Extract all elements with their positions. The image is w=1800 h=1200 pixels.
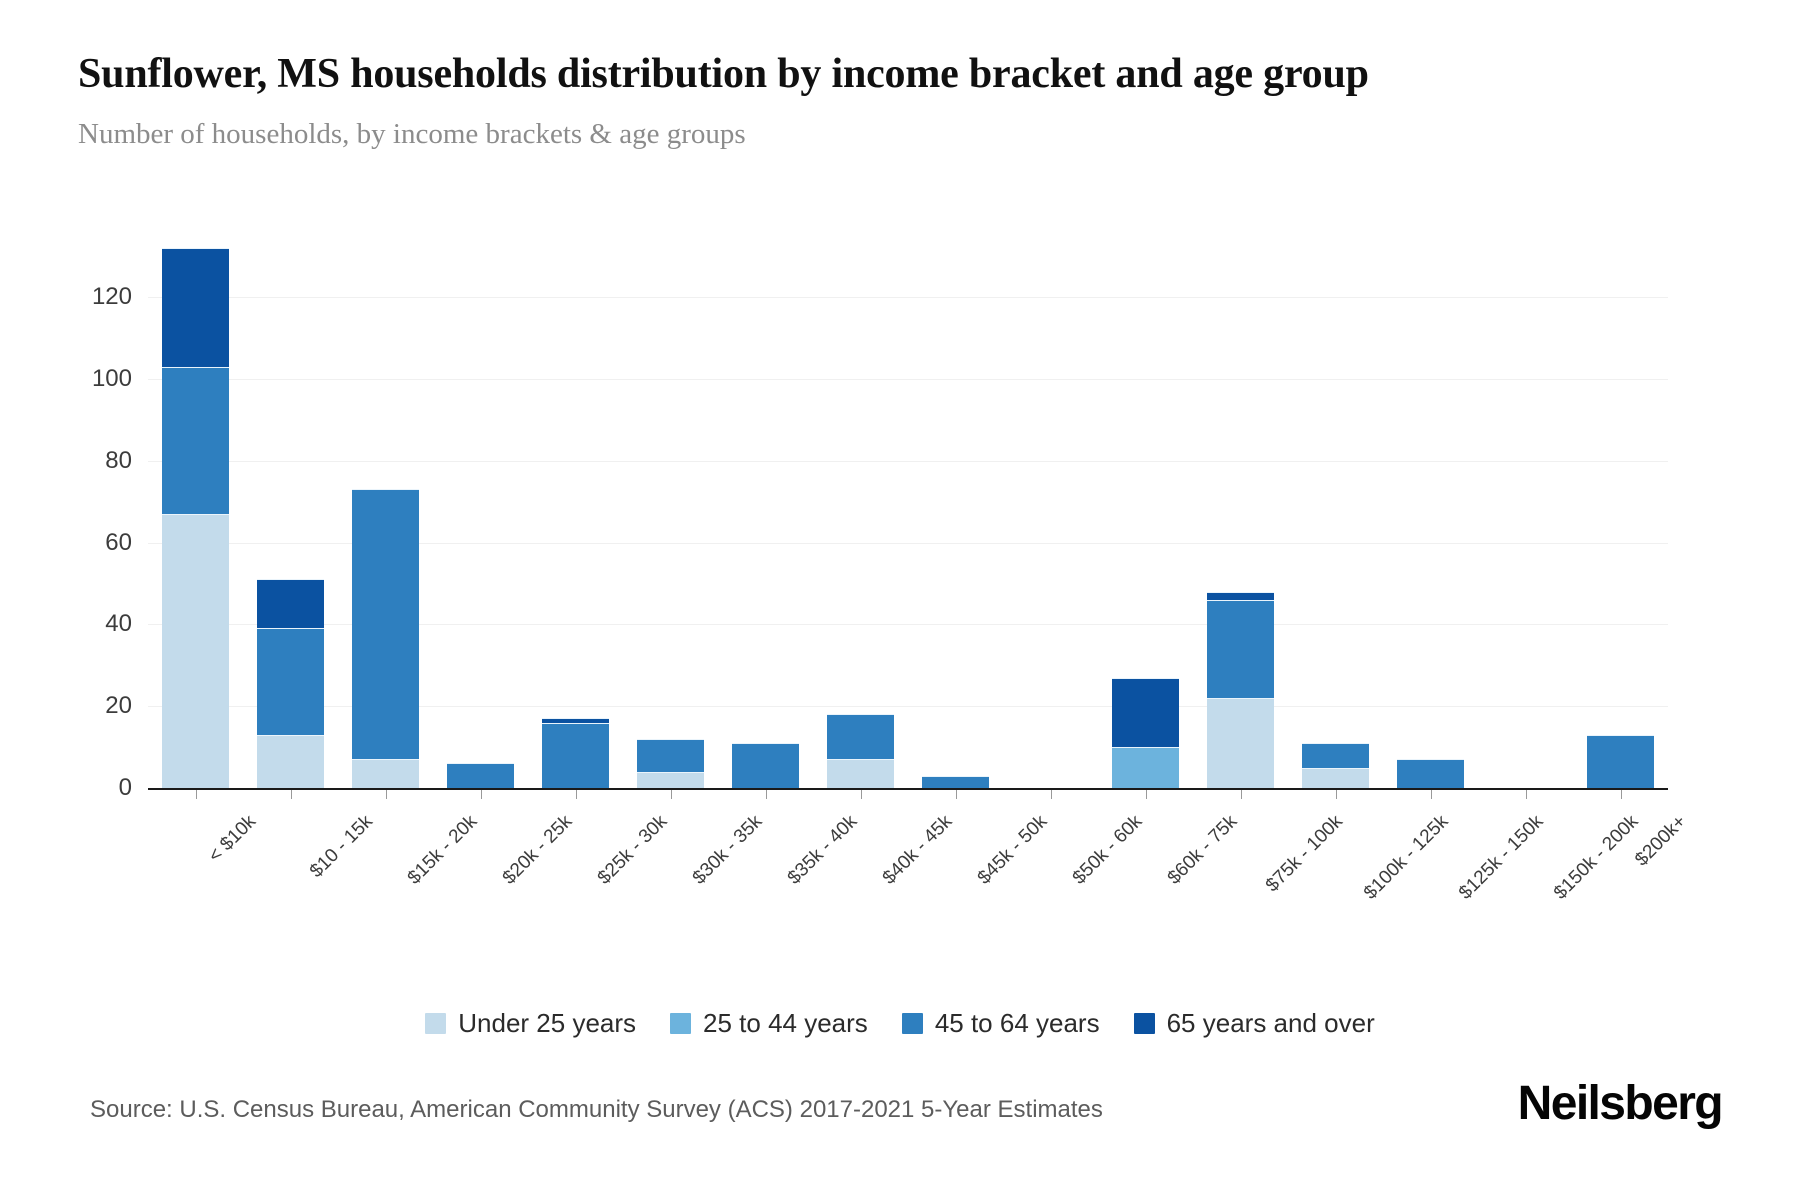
bar-stack [447,763,514,788]
bar-segment[interactable] [637,739,704,772]
x-tick [861,790,862,799]
chart-footer: Source: U.S. Census Bureau, American Com… [0,1088,1800,1158]
y-tick-label: 0 [119,774,132,802]
x-tick [1621,790,1622,799]
x-tick-label: $45k - 50k [973,811,1051,889]
x-tick [196,790,197,799]
legend-swatch-icon [425,1013,446,1034]
x-axis-ticks [148,790,1668,802]
plot-area: 020406080100120 < $10k$10 - 15k$15k - 20… [0,248,1800,908]
bar-stack [352,489,419,788]
bar-column[interactable] [922,248,989,788]
bar-segment[interactable] [827,759,894,788]
x-tick [481,790,482,799]
bar-segment[interactable] [542,723,609,788]
x-tick [766,790,767,799]
bar-segment[interactable] [1397,759,1464,788]
bar-stack [1207,592,1274,788]
bar-segment[interactable] [1207,592,1274,600]
legend-item[interactable]: 45 to 64 years [902,1008,1100,1039]
legend-label: 65 years and over [1167,1008,1375,1039]
legend-swatch-icon [902,1013,923,1034]
x-tick-label: $20k - 25k [498,811,576,889]
chart-header: Sunflower, MS households distribution by… [78,48,1638,151]
x-tick-label: $200k+ [1631,811,1691,871]
bar-segment[interactable] [827,714,894,759]
bar-stack [922,776,989,788]
bar-segment[interactable] [1112,747,1179,788]
bar-segment[interactable] [257,735,324,788]
bar-column[interactable] [1397,248,1464,788]
bar-column[interactable] [352,248,419,788]
legend-label: 45 to 64 years [935,1008,1100,1039]
x-tick [1051,790,1052,799]
bar-stack [827,714,894,788]
bar-segment[interactable] [162,248,229,367]
bar-segment[interactable] [257,628,324,734]
legend-swatch-icon [670,1013,691,1034]
bar-column[interactable] [637,248,704,788]
x-tick-label: $30k - 35k [688,811,766,889]
bar-segment[interactable] [162,514,229,788]
y-tick-label: 80 [105,447,132,475]
x-tick-label: $15k - 20k [403,811,481,889]
x-tick [1431,790,1432,799]
bar-stack [1302,743,1369,788]
legend-label: 25 to 44 years [703,1008,868,1039]
bar-column[interactable] [1112,248,1179,788]
bar-stack [542,718,609,788]
x-tick [1336,790,1337,799]
bar-column[interactable] [542,248,609,788]
x-tick-label: $10 - 15k [305,811,377,883]
chart-page: Sunflower, MS households distribution by… [0,0,1800,1200]
x-tick-label: $100k - 125k [1359,811,1452,904]
bar-segment[interactable] [1587,735,1654,788]
bar-stack [162,248,229,788]
x-axis-labels: < $10k$10 - 15k$15k - 20k$20k - 25k$25k … [148,804,1668,924]
legend: Under 25 years25 to 44 years45 to 64 yea… [0,1008,1800,1039]
bar-segment[interactable] [352,489,419,759]
chart-subtitle: Number of households, by income brackets… [78,118,1638,151]
x-tick [1241,790,1242,799]
legend-label: Under 25 years [458,1008,636,1039]
bar-column[interactable] [1492,248,1559,788]
y-tick-label: 40 [105,610,132,638]
x-tick [1146,790,1147,799]
legend-item[interactable]: 65 years and over [1134,1008,1375,1039]
bar-column[interactable] [162,248,229,788]
y-axis: 020406080100120 [0,248,148,788]
bars-layer [148,248,1668,788]
x-tick-label: $75k - 100k [1261,811,1347,897]
bar-column[interactable] [827,248,894,788]
y-tick-label: 20 [105,692,132,720]
bar-segment[interactable] [257,579,324,628]
bar-segment[interactable] [1207,698,1274,788]
legend-item[interactable]: 25 to 44 years [670,1008,868,1039]
x-tick [386,790,387,799]
bar-stack [257,579,324,788]
page-title: Sunflower, MS households distribution by… [78,48,1438,102]
x-tick-label: $60k - 75k [1163,811,1241,889]
bar-segment[interactable] [352,759,419,788]
bar-segment[interactable] [447,763,514,788]
bar-column[interactable] [257,248,324,788]
bar-stack [732,743,799,788]
bar-column[interactable] [1017,248,1084,788]
x-tick [671,790,672,799]
bar-segment[interactable] [922,776,989,788]
bar-segment[interactable] [1302,743,1369,768]
bar-column[interactable] [1302,248,1369,788]
bar-segment[interactable] [162,367,229,514]
bar-segment[interactable] [637,772,704,788]
bar-column[interactable] [447,248,514,788]
x-tick-label: $150k - 200k [1549,811,1642,904]
bar-segment[interactable] [732,743,799,788]
brand-logo: Neilsberg [1518,1076,1722,1131]
bar-stack [637,739,704,788]
bar-stack [1587,735,1654,788]
bar-segment[interactable] [1302,768,1369,788]
source-note: Source: U.S. Census Bureau, American Com… [90,1096,1103,1124]
x-tick-label: $125k - 150k [1454,811,1547,904]
x-tick-label: $40k - 45k [878,811,956,889]
y-tick-label: 60 [105,529,132,557]
bar-column[interactable] [1587,248,1654,788]
x-tick [291,790,292,799]
legend-swatch-icon [1134,1013,1155,1034]
x-tick-label: < $10k [204,811,260,867]
x-tick-label: $50k - 60k [1068,811,1146,889]
bar-segment[interactable] [1207,600,1274,698]
bar-stack [1397,759,1464,788]
x-tick [1526,790,1527,799]
bar-column[interactable] [732,248,799,788]
x-tick-label: $35k - 40k [783,811,861,889]
y-tick-label: 100 [92,365,132,393]
x-tick-label: $25k - 30k [593,811,671,889]
y-tick-label: 120 [92,283,132,311]
x-tick [956,790,957,799]
legend-item[interactable]: Under 25 years [425,1008,636,1039]
bar-segment[interactable] [1112,678,1179,748]
bar-stack [1112,678,1179,788]
x-tick [576,790,577,799]
bar-column[interactable] [1207,248,1274,788]
